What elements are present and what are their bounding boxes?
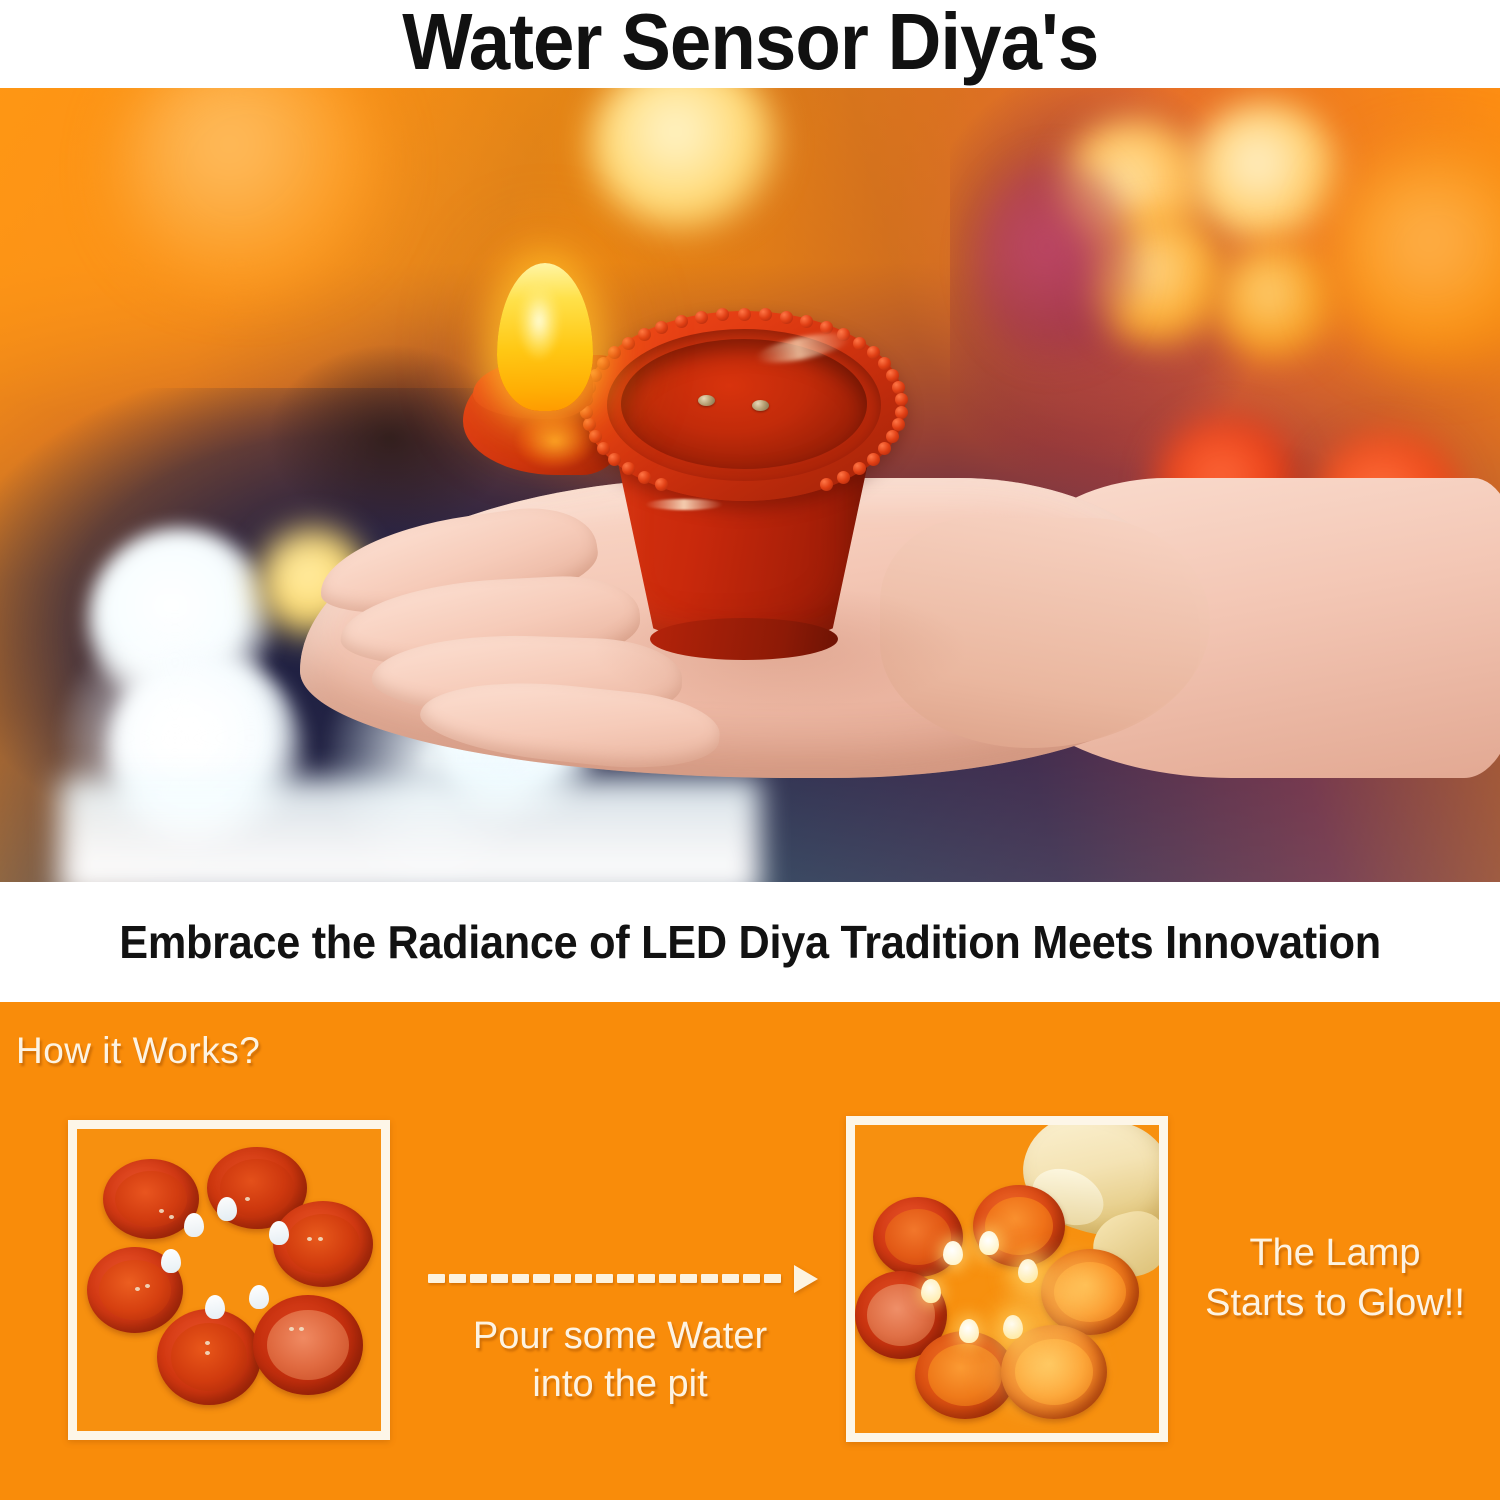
arrow-dash — [743, 1274, 760, 1283]
process-arrow — [428, 1266, 818, 1292]
diya-unlit-6 — [253, 1295, 363, 1395]
diya-rim-bead — [892, 418, 905, 431]
step-photo-before-inner — [77, 1129, 381, 1431]
diya-lit-5 — [915, 1331, 1015, 1419]
diya-lit-4-bulb — [921, 1279, 941, 1303]
arrow-dash — [701, 1274, 718, 1283]
diya-lit-5-well — [928, 1344, 1002, 1406]
diya-rim-bead — [638, 328, 651, 341]
step-photo-after — [846, 1116, 1168, 1442]
diya-rim-bead — [780, 311, 793, 324]
diya-unlit-1-contact-a — [159, 1209, 164, 1213]
diya-rim-bead — [608, 346, 621, 359]
diya-rim-bead — [800, 315, 813, 328]
diya-rim-bead — [622, 337, 635, 350]
subtitle-bar: Embrace the Radiance of LED Diya Traditi… — [0, 882, 1500, 1002]
diya-rim-bead — [853, 462, 866, 475]
sensor-contact-left — [698, 395, 715, 406]
diya-lit-6-well — [1015, 1339, 1093, 1405]
title-bar: Water Sensor Diya's — [0, 0, 1500, 88]
arrow-dash — [428, 1274, 445, 1283]
arrow-dash — [596, 1274, 613, 1283]
caption-lamp-glows: The Lamp Starts to Glow!! — [1185, 1228, 1485, 1328]
diya-rim-bead — [895, 393, 908, 406]
arrow-dash — [449, 1274, 466, 1283]
diya-unlit-4-bulb — [161, 1249, 181, 1273]
diya-rim-bead — [695, 311, 708, 324]
arrow-dash — [617, 1274, 634, 1283]
diya-unlit-1-well — [115, 1171, 186, 1227]
arrow-dash — [575, 1274, 592, 1283]
caption-lamp-glows-line2: Starts to Glow!! — [1185, 1278, 1485, 1328]
diya-lit-3 — [1041, 1249, 1139, 1335]
product-infographic-page: Water Sensor Diya's — [0, 0, 1500, 1500]
diya-unlit-2-bulb — [217, 1197, 237, 1221]
diya-rim-bead — [622, 462, 635, 475]
diya-rim-bead — [837, 471, 850, 484]
diya-rim-bead — [878, 357, 891, 370]
diya-unlit-5-bulb — [205, 1295, 225, 1319]
arrow-dash — [722, 1274, 739, 1283]
diya-water-pit — [621, 339, 867, 469]
diya-unlit-4-contact-b — [145, 1284, 150, 1288]
led-diya-product — [455, 263, 975, 713]
diya-spout-glow — [515, 411, 601, 473]
diya-unlit-3-contact-a — [307, 1237, 312, 1241]
diya-rim-bead — [759, 308, 772, 321]
diya-rim-bead — [738, 308, 751, 321]
diya-base — [650, 618, 838, 660]
diya-rim-bead — [892, 381, 905, 394]
diya-unlit-3 — [273, 1201, 373, 1287]
caption-pour-water: Pour some Water into the pit — [420, 1312, 820, 1408]
diya-lit-5-bulb — [959, 1319, 979, 1343]
diya-rim-bead — [867, 346, 880, 359]
diya-unlit-3-well — [286, 1214, 360, 1274]
diya-lit-6-bulb — [1003, 1315, 1023, 1339]
arrow-dash — [764, 1274, 781, 1283]
caption-pour-water-line1: Pour some Water — [420, 1312, 820, 1360]
diya-rim-bead — [878, 442, 891, 455]
diya-rim-bead — [608, 453, 621, 466]
arrow-dash — [512, 1274, 529, 1283]
diya-unlit-1-bulb — [184, 1213, 204, 1237]
step-photo-after-inner — [855, 1125, 1159, 1433]
subtitle-text: Embrace the Radiance of LED Diya Traditi… — [119, 915, 1381, 969]
diya-lit-6 — [1001, 1325, 1107, 1419]
diya-unlit-3-bulb — [269, 1221, 289, 1245]
diya-unlit-5-well — [171, 1323, 248, 1390]
arrow-dash — [680, 1274, 697, 1283]
diya-body-highlight — [645, 499, 723, 510]
diya-rim-bead — [675, 315, 688, 328]
diya-unlit-6-contact-a — [289, 1327, 294, 1331]
diya-unlit-4-contact-a — [135, 1287, 140, 1291]
diya-rim-bead — [820, 321, 833, 334]
diya-unlit-6-well — [267, 1310, 348, 1380]
diya-rim-bead — [716, 308, 729, 321]
diya-lit-1 — [873, 1197, 963, 1277]
arrow-dash — [533, 1274, 550, 1283]
page-title: Water Sensor Diya's — [402, 2, 1098, 82]
diya-unlit-6-contact-b — [299, 1327, 304, 1331]
diya-lit-3-well — [1054, 1262, 1127, 1322]
diya-unlit-1-contact-b — [169, 1215, 174, 1219]
diya-rim-bead — [853, 337, 866, 350]
diya-rim-bead — [867, 453, 880, 466]
arrow-dash — [659, 1274, 676, 1283]
diya-lit-3-bulb — [1018, 1259, 1038, 1283]
hero-product-photo — [0, 88, 1500, 882]
diya-rim-bead — [655, 478, 668, 491]
sensor-contact-right — [752, 400, 769, 411]
diya-rim-bead — [886, 369, 899, 382]
diya-rim-bead — [655, 321, 668, 334]
step-photo-before — [68, 1120, 390, 1440]
arrow-dash — [491, 1274, 508, 1283]
caption-pour-water-line2: into the pit — [420, 1360, 820, 1408]
diya-lit-2-bulb — [979, 1231, 999, 1255]
diya-rim-bead — [895, 406, 908, 419]
diya-lit-1-bulb — [943, 1241, 963, 1265]
diya-rim-bead — [886, 430, 899, 443]
arrow-dash — [470, 1274, 487, 1283]
diya-unlit-2-contact-a — [245, 1197, 250, 1201]
arrow-head-icon — [794, 1265, 818, 1293]
diya-rim-bead — [597, 357, 610, 370]
diya-lit-1-well — [885, 1209, 952, 1265]
diya-rim-bead — [638, 471, 651, 484]
diya-rim-bead — [820, 478, 833, 491]
diya-unlit-5 — [157, 1309, 261, 1405]
diya-unlit-5-contact-a — [205, 1341, 210, 1345]
led-flame-core — [515, 281, 567, 377]
diya-unlit-5-contact-b — [205, 1351, 210, 1355]
diya-unlit-6-bulb — [249, 1285, 269, 1309]
caption-lamp-glows-line1: The Lamp — [1185, 1228, 1485, 1278]
arrow-dash — [554, 1274, 571, 1283]
diya-unlit-3-contact-b — [318, 1237, 323, 1241]
how-it-works-heading: How it Works? — [16, 1030, 260, 1072]
arrow-dash — [638, 1274, 655, 1283]
